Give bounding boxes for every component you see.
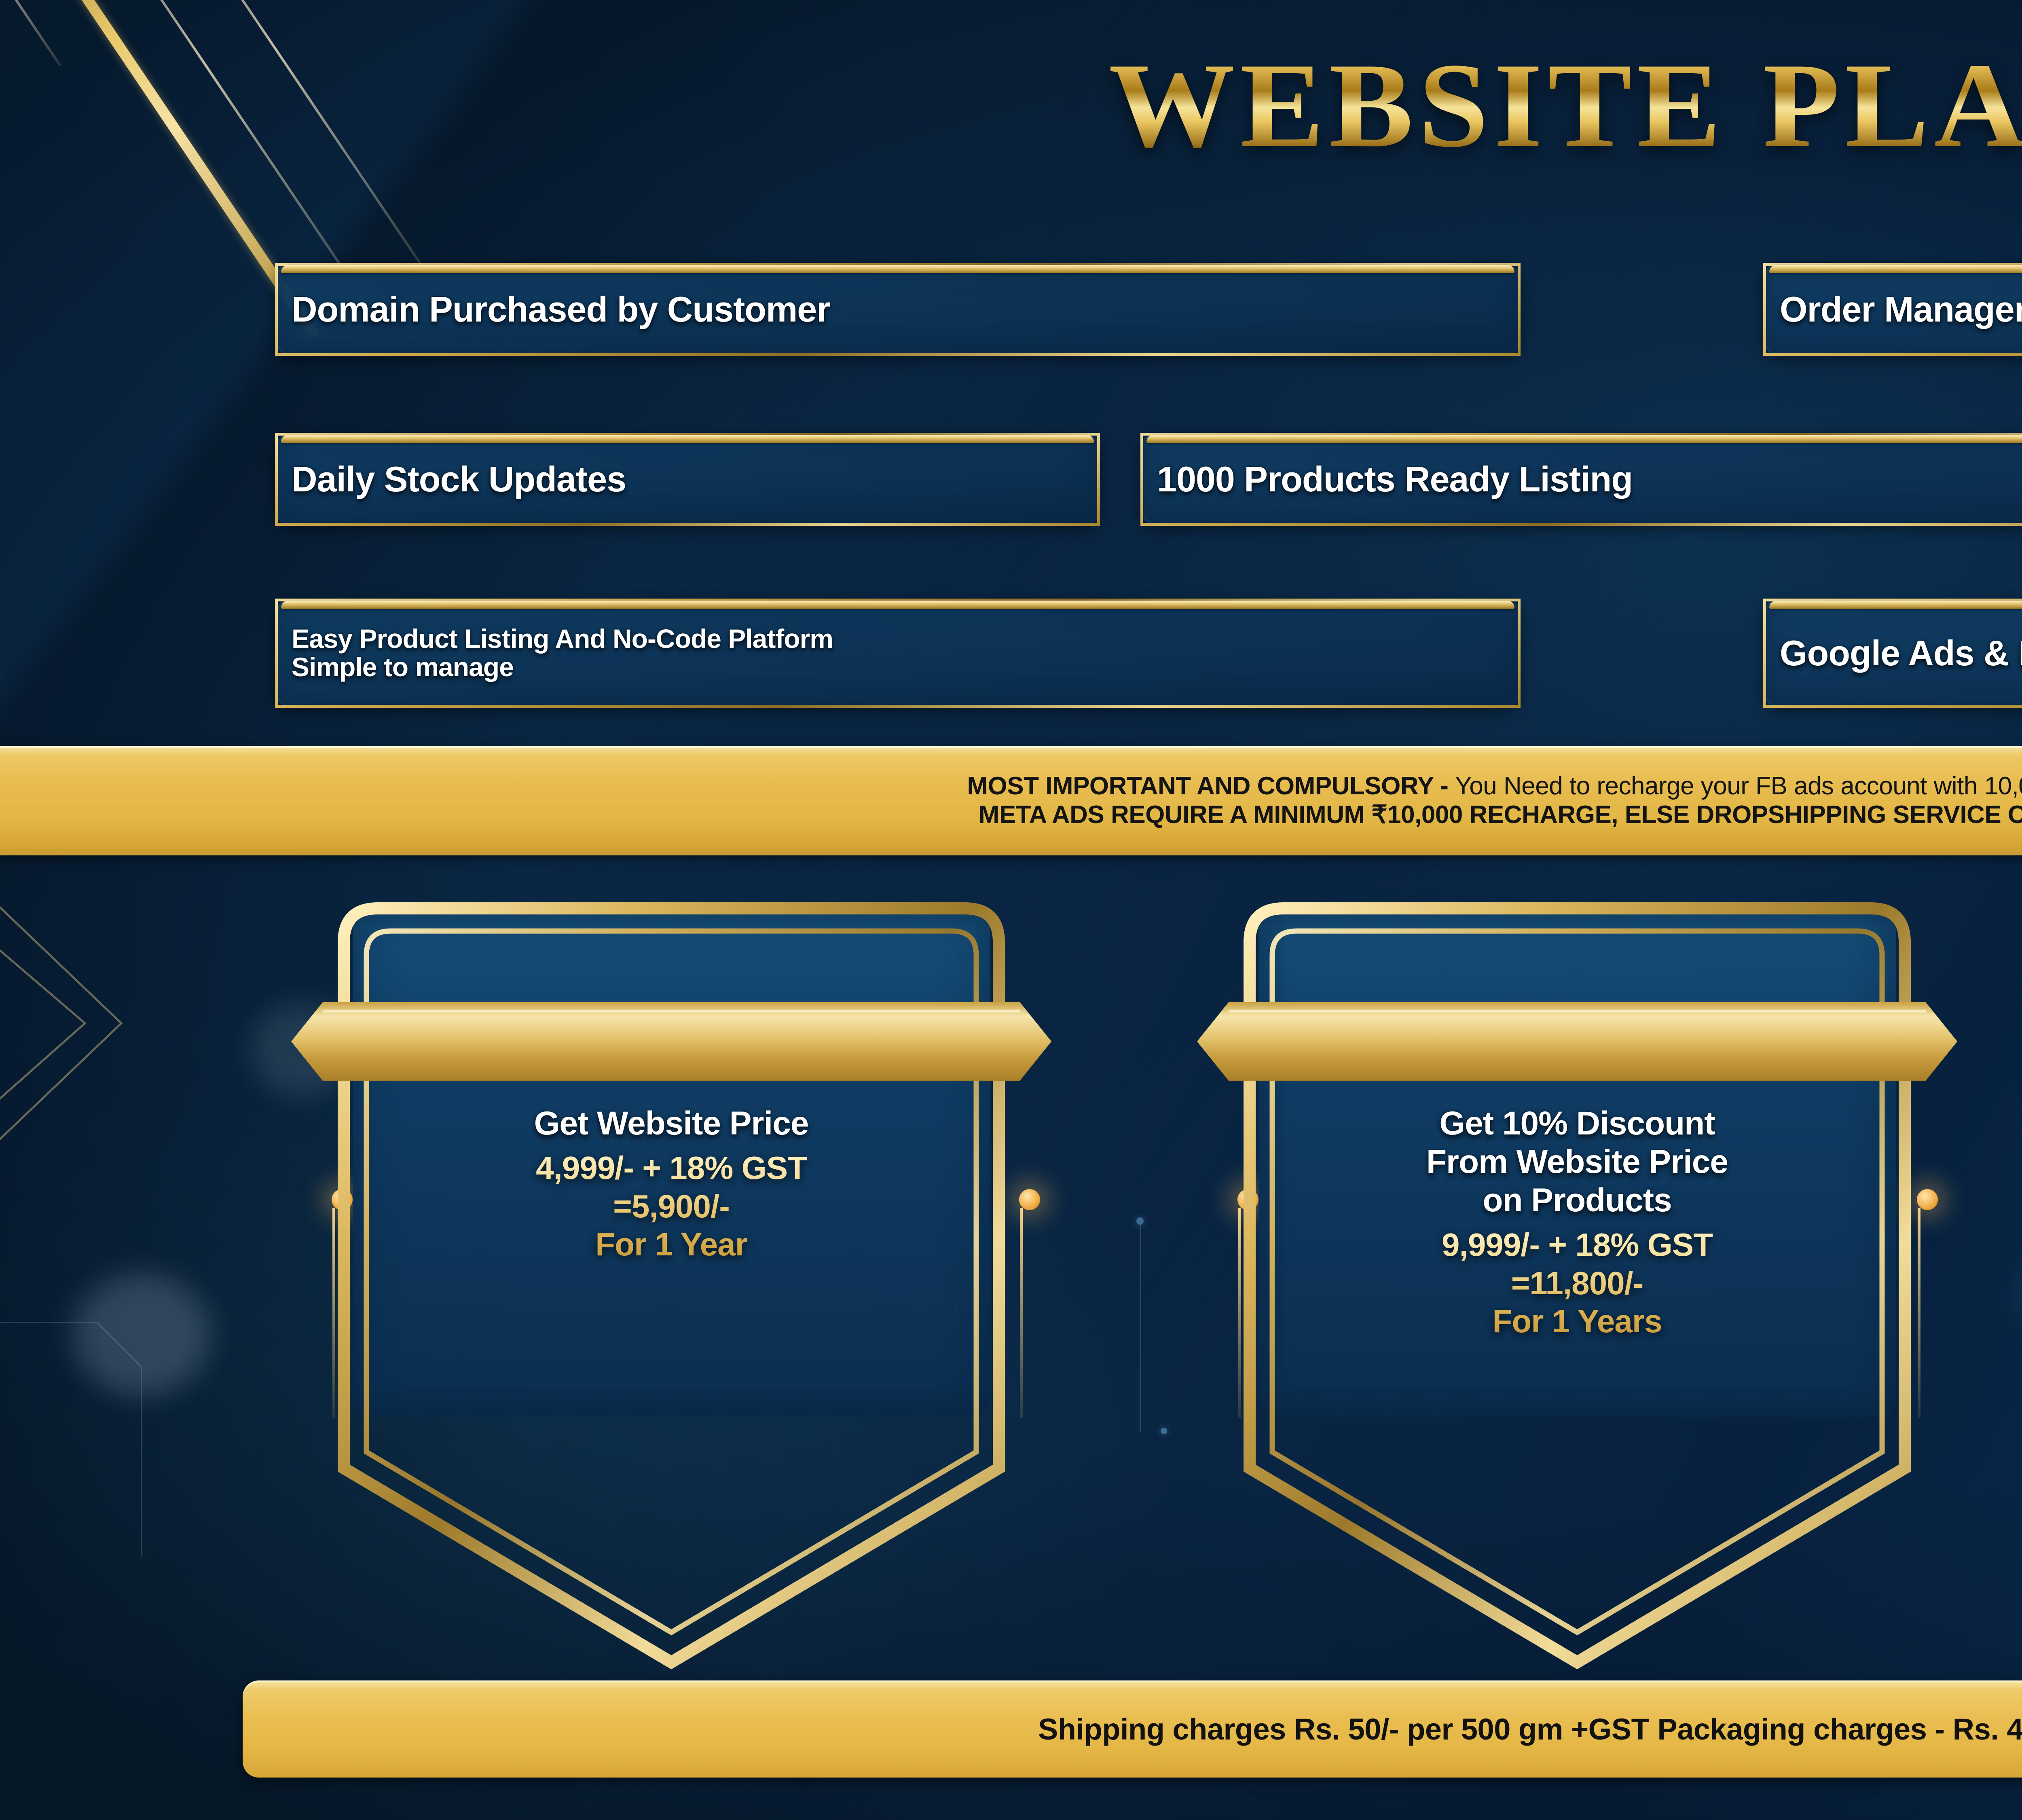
plan-content: Get 10% Discount From Website Price on P… [1274, 1104, 1880, 1341]
page-title: WEBSITE PLAN [1109, 44, 2022, 166]
decorative-node-dot [1161, 1428, 1167, 1434]
plan-ribbon [291, 999, 1051, 1084]
feature-label: Easy Product Listing And No-Code Platfor… [278, 625, 847, 681]
notice-line-1: MOST IMPORTANT AND COMPULSORY - You Need… [967, 773, 2022, 800]
notice-lead: MOST IMPORTANT AND COMPULSORY - [967, 772, 1455, 800]
plan-price: 4,999/- + 18% GST =5,900/- For 1 Year [368, 1149, 975, 1263]
feature-box-domain-purchased[interactable]: Domain Purchased by Customer [275, 263, 1521, 356]
shipping-charges-text: Shipping charges Rs. 50/- per 500 gm +GS… [1038, 1712, 2022, 1746]
decorative-thin-line [1140, 1221, 1141, 1432]
feature-box-products-ready-listing[interactable]: 1000 Products Ready Listing [1140, 433, 2022, 526]
plan-content: Get Website Price 4,999/- + 18% GST =5,9… [368, 1104, 975, 1263]
bokeh-glow [73, 1274, 210, 1395]
notice-line-1-rest: You Need to recharge your FB ads account… [1455, 772, 2022, 800]
feature-label: Google Ads & Meta Pixel Integration [1766, 634, 2022, 672]
feature-label: 1000 Products Ready Listing [1143, 460, 1646, 498]
feature-box-easy-product-listing[interactable]: Easy Product Listing And No-Code Platfor… [275, 599, 1521, 708]
feature-box-daily-stock-updates[interactable]: Daily Stock Updates [275, 433, 1100, 526]
plan-ribbon [1197, 999, 1957, 1084]
plan-description: Get Website Price [368, 1104, 975, 1143]
shipping-charges-banner: Shipping charges Rs. 50/- per 500 gm +GS… [243, 1680, 2022, 1778]
left-corner-gold-lines [0, 870, 315, 1557]
feature-label: Daily Stock Updates [278, 460, 640, 498]
feature-label: Order Management Panel [1766, 290, 2022, 328]
notice-line-2: META ADS REQUIRE A MINIMUM ₹10,000 RECHA… [979, 802, 2022, 829]
feature-box-google-ads-meta-pixel[interactable]: Google Ads & Meta Pixel Integration [1763, 599, 2022, 708]
decorative-node-dot [1136, 1217, 1144, 1225]
plan-price: 9,999/- + 18% GST =11,800/- For 1 Years [1274, 1226, 1880, 1340]
page-title-container: WEBSITE PLAN [0, 44, 2022, 166]
plan-description: Get 10% Discount From Website Price on P… [1274, 1104, 1880, 1219]
feature-label: Domain Purchased by Customer [278, 290, 844, 328]
feature-box-order-management[interactable]: Order Management Panel No Monthly Hostin… [1763, 263, 2022, 356]
important-notice-banner: MOST IMPORTANT AND COMPULSORY - You Need… [0, 746, 2022, 855]
